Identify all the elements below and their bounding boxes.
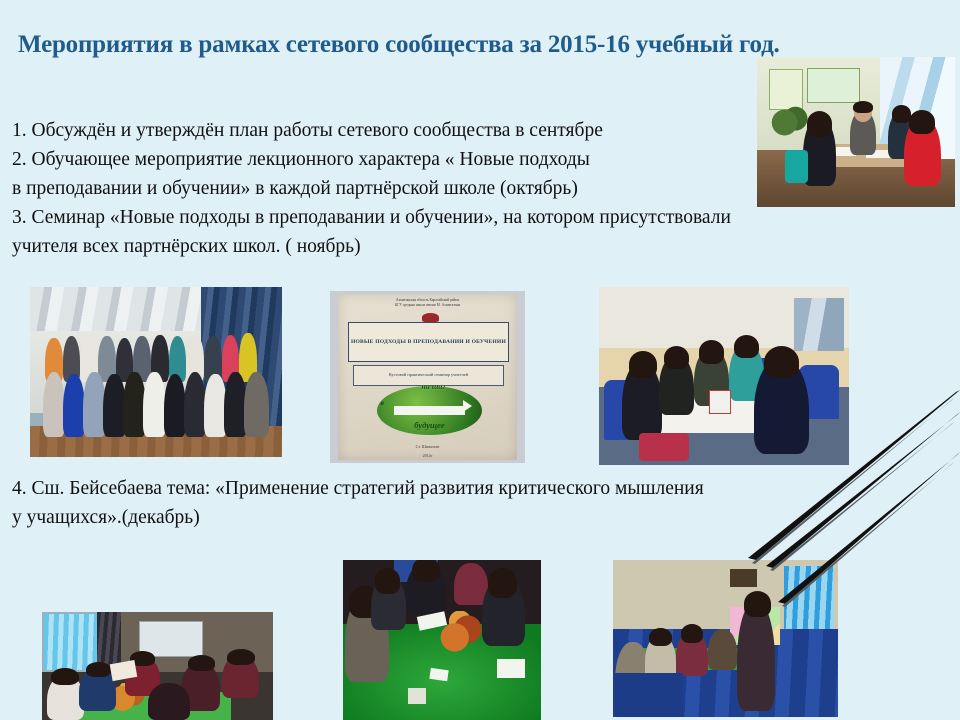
poster-footer-place: Ст. Шамалган xyxy=(350,444,506,449)
poster-emblem xyxy=(422,313,440,322)
slide-canvas: Мероприятия в рамках сетевого сообщества… xyxy=(0,0,960,720)
poster-slogan-1: на шаг xyxy=(387,382,481,391)
body-line-3: в преподавании и обучении» в каждой парт… xyxy=(12,174,772,203)
poster-arrow-shaft xyxy=(394,406,464,415)
body-line-1: 1. Обсуждён и утверждён план работы сете… xyxy=(12,116,772,145)
poster-footer-year: 2014г xyxy=(350,453,506,458)
body-line-6: 4. Сш. Бейсебаева тема: «Применение стра… xyxy=(12,474,902,503)
body-text-middle: 4. Сш. Бейсебаева тема: «Применение стра… xyxy=(12,474,902,532)
photo-teachers-at-table-classroom xyxy=(757,57,955,207)
poster-subtitle: Кустовой практический семинар учителей xyxy=(389,372,468,378)
body-line-7: у учащихся».(декабрь) xyxy=(12,503,902,532)
photo-group-work-green-table xyxy=(343,560,541,720)
poster-header-line-2: КГУ средняя школа имени М. Алимгазина xyxy=(350,303,506,308)
poster-slogan-3: будущее xyxy=(373,420,486,430)
body-line-4: 3. Семинар «Новые подходы в преподавании… xyxy=(12,203,772,232)
body-line-5: учителя всех партнёрских школ. ( ноябрь) xyxy=(12,232,772,261)
poster-main-title: НОВЫЕ ПОДХОДЫ В ПРЕПОДАВАНИИ И ОБУЧЕНИИ xyxy=(351,338,506,346)
poster-slogan-2: в xyxy=(381,399,384,407)
photo-teachers-round-table-discussion xyxy=(599,287,849,465)
page-title: Мероприятия в рамках сетевого сообщества… xyxy=(18,28,808,62)
photo-seminar-booklet-cover: Алматинская область Карасайский район КГ… xyxy=(330,291,525,463)
body-text-top: 1. Обсуждён и утверждён план работы сете… xyxy=(12,116,772,261)
poster-arrow-head xyxy=(463,400,472,412)
poster-title-box: НОВЫЕ ПОДХОДЫ В ПРЕПОДАВАНИИ И ОБУЧЕНИИ xyxy=(348,322,510,362)
body-line-2: 2. Обучающее мероприятие лекционного хар… xyxy=(12,145,772,174)
photo-large-teacher-group xyxy=(30,287,282,457)
photo-presentation-with-poster xyxy=(613,560,838,717)
photo-classroom-group-work-projector xyxy=(42,612,273,720)
